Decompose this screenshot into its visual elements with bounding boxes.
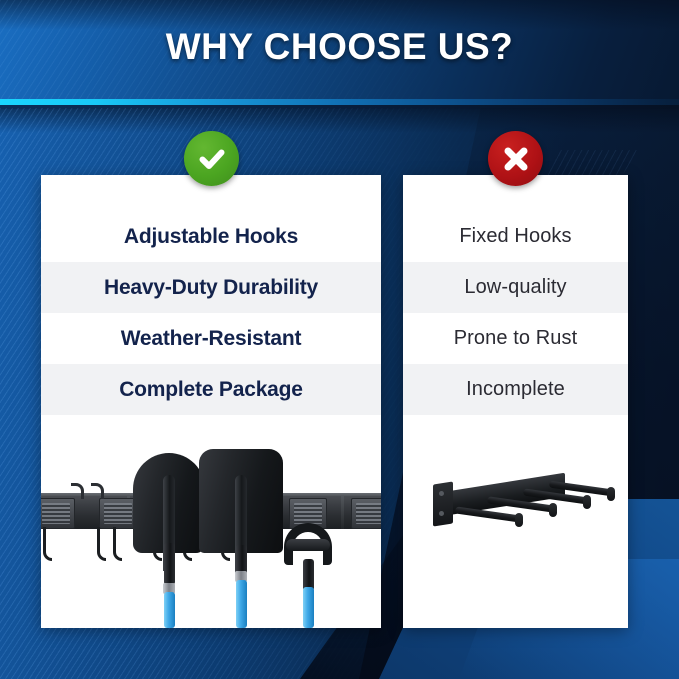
infographic-canvas: WHY CHOOSE US? Adjustable Hooks Heavy-Du… — [0, 0, 679, 679]
list-item: Heavy-Duty Durability — [41, 262, 381, 313]
adjustable-hook — [71, 483, 84, 499]
fixed-hook-tip — [549, 503, 557, 517]
shovel-handle — [236, 580, 247, 628]
cons-feature-list: Fixed Hooks Low-quality Prone to Rust In… — [403, 211, 628, 415]
shovel-shaft — [164, 543, 175, 585]
hook-rail-plate — [433, 481, 453, 526]
list-item: Complete Package — [41, 364, 381, 415]
pros-product-image — [41, 435, 381, 628]
pros-card: Adjustable Hooks Heavy-Duty Durability W… — [41, 175, 381, 628]
check-circle-icon — [184, 131, 239, 186]
list-item: Fixed Hooks — [403, 211, 628, 262]
fixed-hook-tip — [515, 513, 523, 527]
fixed-hook-tip — [583, 495, 591, 509]
rail-bracket — [99, 498, 137, 529]
adjustable-hook — [97, 527, 106, 561]
cons-card: Fixed Hooks Low-quality Prone to Rust In… — [403, 175, 628, 628]
d-handle-handle — [303, 587, 314, 628]
cons-product-image — [403, 435, 628, 628]
mounting-bolt — [439, 511, 444, 516]
list-item: Low-quality — [403, 262, 628, 313]
d-handle-grip — [286, 539, 330, 551]
x-circle-icon — [488, 131, 543, 186]
shovel-shaft — [236, 545, 247, 573]
list-item: Weather-Resistant — [41, 313, 381, 364]
adjustable-hook — [91, 483, 104, 499]
page-title: WHY CHOOSE US? — [0, 26, 679, 68]
rail-bracket — [41, 498, 75, 529]
list-item: Adjustable Hooks — [41, 211, 381, 262]
mounting-bolt — [439, 491, 444, 496]
fixed-hook-tip — [607, 487, 615, 501]
list-item: Prone to Rust — [403, 313, 628, 364]
rail-seam — [341, 496, 344, 529]
rail-bracket — [351, 498, 381, 529]
adjustable-hook — [43, 527, 52, 561]
pros-feature-list: Adjustable Hooks Heavy-Duty Durability W… — [41, 211, 381, 415]
shovel-handle — [164, 592, 175, 628]
adjustable-hook — [113, 527, 122, 561]
list-item: Incomplete — [403, 364, 628, 415]
